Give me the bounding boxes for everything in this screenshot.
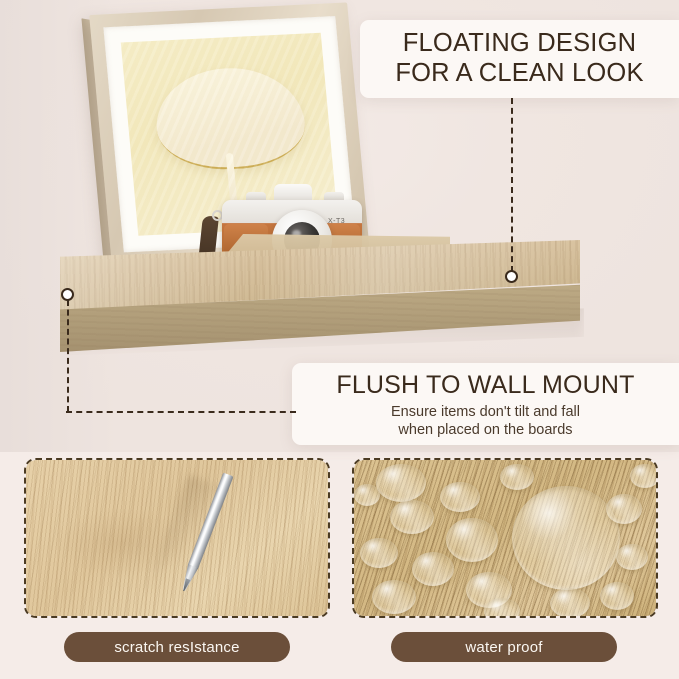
water-droplet	[550, 588, 590, 618]
camera-model-badge: X-T3	[328, 218, 350, 226]
water-droplet	[606, 494, 642, 524]
leader-line-flush-mount-horizontal	[66, 411, 296, 413]
callout-flush-wall-mount-subtitle-line2: when placed on the boards	[398, 421, 572, 439]
callout-floating-design: FLOATING DESIGN FOR A CLEAN LOOK	[360, 20, 679, 98]
feature-panel-scratch-resistance	[24, 458, 330, 618]
product-feature-image: X-T3 FLOATING DESIGN FOR A CLEAN LOOK FL…	[0, 0, 679, 679]
label-pill-scratch-resistance-text: scratch resIstance	[114, 639, 239, 656]
water-droplet	[500, 464, 534, 490]
callout-floating-design-title-line2: FOR A CLEAN LOOK	[395, 59, 643, 89]
label-pill-scratch-resistance: scratch resIstance	[64, 632, 290, 662]
leader-line-flush-mount-vertical	[67, 300, 69, 412]
water-droplet	[630, 464, 658, 488]
water-droplet	[412, 552, 454, 586]
water-droplet	[600, 582, 634, 610]
water-droplet	[376, 464, 426, 502]
callout-flush-wall-mount: FLUSH TO WALL MOUNT Ensure items don't t…	[292, 363, 679, 445]
floating-shelf	[60, 240, 580, 355]
water-droplet	[354, 484, 380, 506]
water-droplet	[440, 482, 480, 512]
water-droplet	[484, 598, 520, 618]
water-droplet	[446, 518, 498, 562]
water-droplet	[512, 486, 620, 590]
callout-floating-design-title-line1: FLOATING DESIGN	[403, 29, 636, 59]
water-droplet	[390, 500, 434, 534]
label-pill-water-proof-text: water proof	[465, 639, 542, 656]
feature-panel-water-proof	[352, 458, 658, 618]
water-droplet	[360, 538, 398, 568]
water-droplet	[616, 544, 648, 570]
screwdriver-tip-point	[181, 578, 190, 592]
leader-line-floating-design	[511, 98, 513, 272]
callout-flush-wall-mount-title: FLUSH TO WALL MOUNT	[336, 371, 634, 400]
callout-flush-wall-mount-subtitle-line1: Ensure items don't tilt and fall	[391, 403, 580, 421]
leader-dot-shelf-right	[505, 270, 518, 283]
leader-dot-shelf-left	[61, 288, 74, 301]
water-droplet	[372, 580, 416, 614]
label-pill-water-proof: water proof	[391, 632, 617, 662]
